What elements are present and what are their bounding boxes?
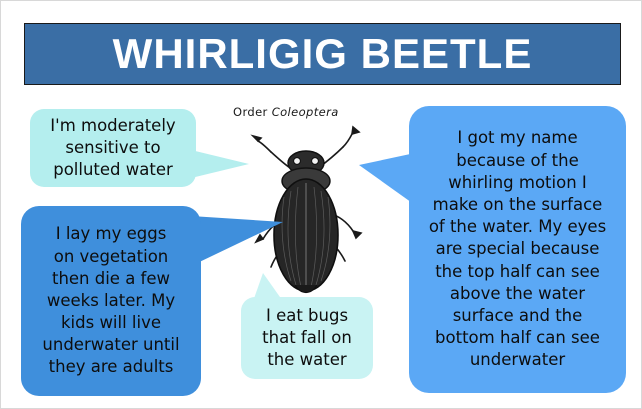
taxonomy-order-label: OrderColeoptera (233, 105, 339, 119)
callout-food[interactable]: I eat bugs that fall on the water (241, 297, 373, 379)
poster-title-banner: WHIRLIGIG BEETLE (24, 23, 621, 85)
callout-name-origin[interactable]: I got my name because of the whirling mo… (409, 106, 626, 393)
whirligig-beetle-poster: WHIRLIGIG BEETLE OrderColeoptera (0, 0, 642, 409)
callout-tail-name (359, 153, 415, 205)
callout-name-origin-text: I got my name because of the whirling mo… (415, 127, 620, 371)
callout-eggs[interactable]: I lay my eggs on vegetation then die a f… (21, 206, 201, 396)
beetle-illustration-block: OrderColeoptera (229, 105, 379, 300)
order-name-text: Coleoptera (272, 105, 339, 119)
beetle-icon (239, 125, 371, 297)
page-title: WHIRLIGIG BEETLE (113, 33, 533, 75)
callout-tail-eggs (191, 216, 283, 266)
callout-pollution-text: I'm moderately sensitive to polluted wat… (38, 115, 188, 181)
callout-food-text: I eat bugs that fall on the water (247, 305, 367, 372)
order-prefix-text: Order (233, 105, 268, 119)
callout-eggs-text: I lay my eggs on vegetation then die a f… (27, 223, 195, 378)
callout-pollution[interactable]: I'm moderately sensitive to polluted wat… (30, 109, 196, 187)
callout-tail-pollution (187, 149, 249, 179)
